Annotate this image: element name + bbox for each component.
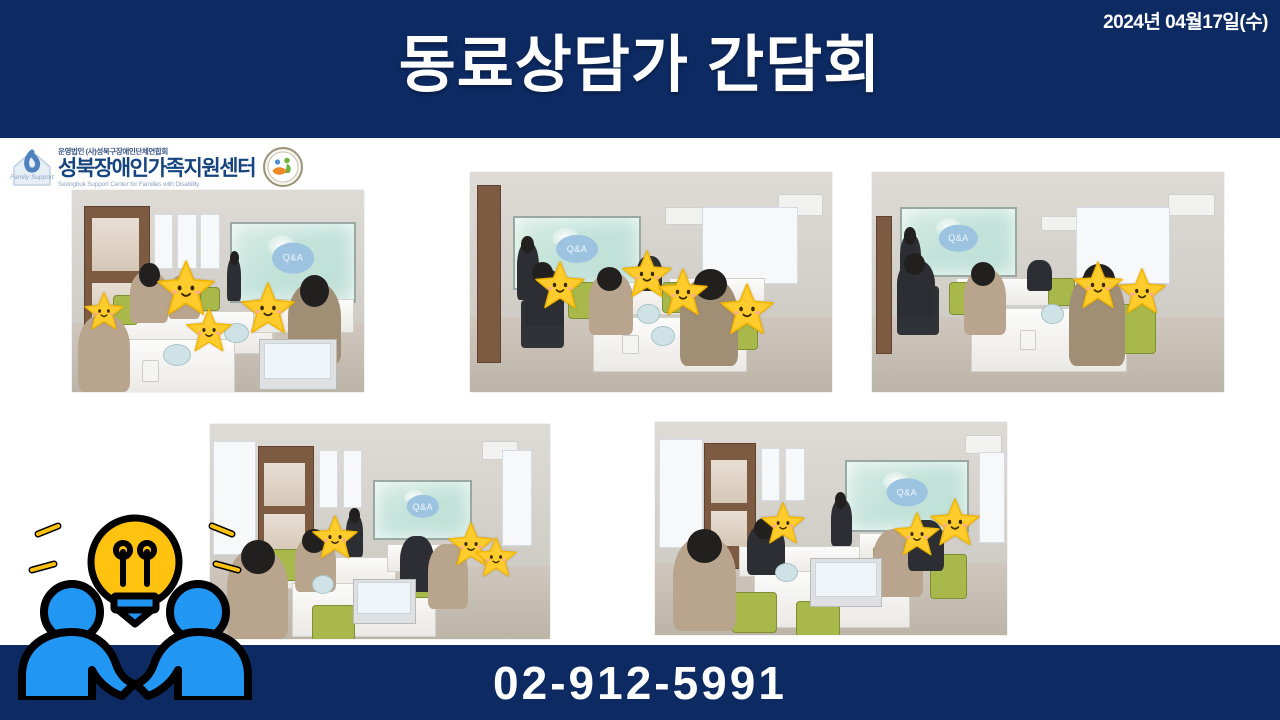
face-cover-star-sticker (84, 291, 124, 331)
face-cover-star-sticker (1118, 267, 1166, 315)
page-title: 동료상담가 간담회 (0, 28, 1280, 104)
two-people-lightbulb-illustration (10, 500, 260, 700)
top-banner: 2024년 04월17일(수) 동료상담가 간담회 (0, 0, 1280, 138)
lightbulb-icon (91, 518, 179, 624)
gallery-photo-5[interactable]: Q&A (655, 422, 1007, 635)
face-cover-star-sticker (720, 282, 774, 336)
face-cover-star-sticker (930, 497, 980, 547)
face-cover-star-sticker (535, 260, 585, 310)
projector-screen-qa-label: Q&A (407, 495, 439, 517)
projector-screen-qa-label: Q&A (272, 243, 314, 274)
projector-screen-qa-label: Q&A (887, 479, 928, 506)
logo-english-title: Seongbuk Support Center for Families wit… (58, 181, 255, 188)
face-cover-star-sticker (241, 281, 295, 335)
face-cover-star-sticker (186, 307, 232, 353)
organization-logo: Family Support 운영법인 (사)성북구장애인단체연합회 성북장애인… (8, 141, 300, 193)
gallery-photo-1[interactable]: Q&A (72, 190, 364, 392)
logo-subtitle: 운영법인 (사)성북구장애인단체연합회 (58, 146, 255, 157)
gallery-photo-2[interactable]: Q&A (470, 172, 832, 392)
logo-main-title: 성북장애인가족지원센터 (58, 158, 255, 180)
logo-text-block: 운영법인 (사)성북구장애인단체연합회 성북장애인가족지원센터 Seongbuk… (58, 146, 255, 188)
gallery-photo-4[interactable]: Q&A (210, 424, 550, 639)
projector-screen-qa-label: Q&A (556, 235, 598, 263)
face-cover-star-sticker (1073, 260, 1123, 310)
face-cover-star-sticker (475, 536, 517, 578)
family-support-house-logo: Family Support (8, 143, 56, 191)
projector-screen-qa-label: Q&A (939, 225, 977, 251)
face-cover-star-sticker (761, 501, 805, 545)
center-emblem-icon (263, 147, 303, 187)
svg-text:Family Support: Family Support (10, 174, 55, 181)
face-cover-star-sticker (312, 514, 358, 560)
face-cover-star-sticker (658, 267, 708, 317)
gallery-photo-3[interactable]: Q&A (872, 172, 1224, 392)
